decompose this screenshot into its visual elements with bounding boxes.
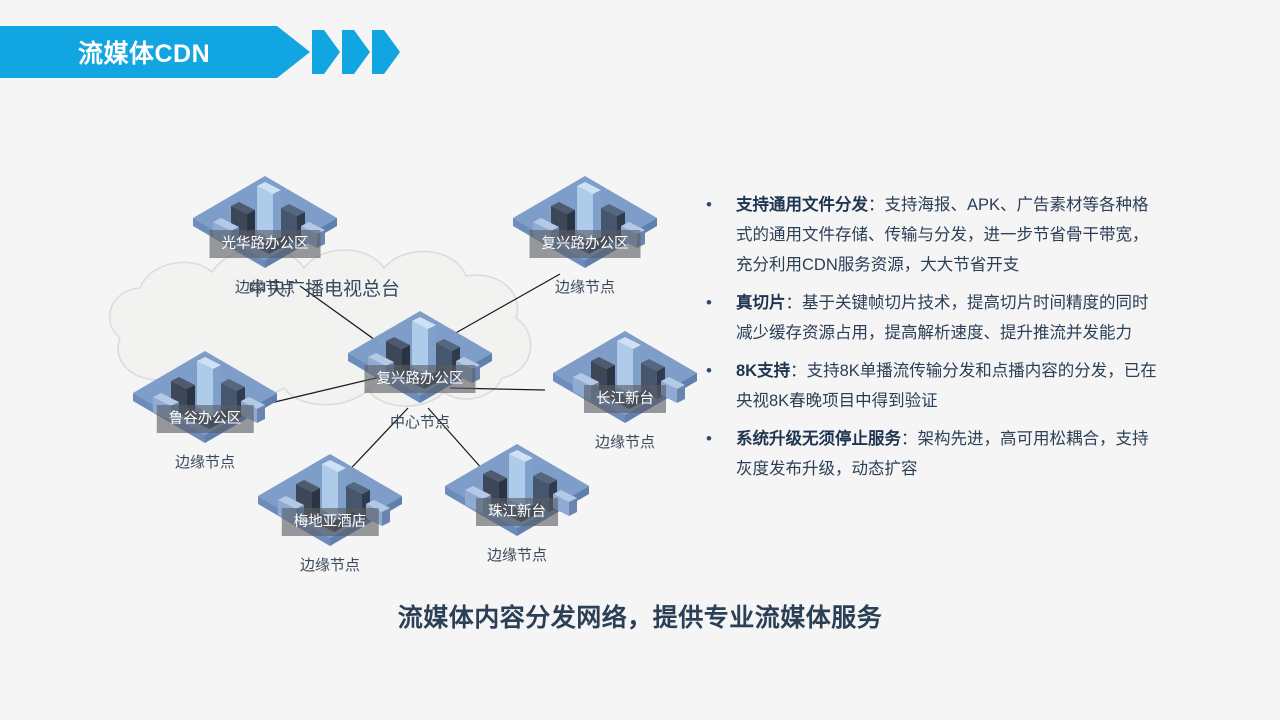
city-illustration: 复兴路办公区 xyxy=(340,305,500,409)
header-banner: 流媒体CDN xyxy=(0,26,400,78)
city-illustration: 梅地亚酒店 xyxy=(250,448,410,552)
feature-text-3: 8K支持：支持8K单播流传输分发和点播内容的分发，已在央视8K春晚项目中得到验证 xyxy=(736,356,1160,416)
city-illustration: 光华路办公区 xyxy=(185,170,345,274)
feature-term-4: 系统升级无须停止服务 xyxy=(736,430,901,448)
node-label: 鲁谷办公区 xyxy=(157,405,254,433)
footer-caption: 流媒体内容分发网络，提供专业流媒体服务 xyxy=(0,598,1280,634)
chevron-right-icon-3 xyxy=(372,30,400,74)
city-illustration: 长江新台 xyxy=(545,325,705,429)
page-title: 流媒体CDN xyxy=(78,34,210,70)
feature-term-2: 真切片 xyxy=(736,294,786,312)
node-sublabel: 边缘节点 xyxy=(505,276,665,297)
chevron-right-icon-2 xyxy=(342,30,370,74)
node-fuxinglu-center[interactable]: 复兴路办公区 中心节点 xyxy=(340,305,500,432)
bullet-point-icon: • xyxy=(700,356,736,416)
node-label: 梅地亚酒店 xyxy=(282,508,379,536)
node-label: 光华路办公区 xyxy=(210,230,321,258)
node-meidiya[interactable]: 梅地亚酒店 边缘节点 xyxy=(250,448,410,575)
city-illustration: 复兴路办公区 xyxy=(505,170,665,274)
node-changjiang[interactable]: 长江新台 边缘节点 xyxy=(545,325,705,452)
node-zhujiang[interactable]: 珠江新台 边缘节点 xyxy=(437,438,597,565)
city-illustration: 珠江新台 xyxy=(437,438,597,542)
node-label: 复兴路办公区 xyxy=(365,365,476,393)
node-sublabel: 边缘节点 xyxy=(437,544,597,565)
feature-separator-1: ： xyxy=(868,196,885,214)
cdn-network-diagram: 中央广播电视总台 xyxy=(0,90,690,610)
feature-item-4: • 系统升级无须停止服务：架构先进，高可用松耦合，支持灰度发布升级，动态扩容 xyxy=(700,424,1160,484)
feature-term-3: 8K支持 xyxy=(736,362,790,380)
diagram-center-title: 中央广播电视总台 xyxy=(248,274,400,301)
bullet-point-icon: • xyxy=(700,190,736,280)
feature-separator-4: ： xyxy=(901,430,918,448)
feature-text-4: 系统升级无须停止服务：架构先进，高可用松耦合，支持灰度发布升级，动态扩容 xyxy=(736,424,1160,484)
feature-item-3: • 8K支持：支持8K单播流传输分发和点播内容的分发，已在央视8K春晚项目中得到… xyxy=(700,356,1160,416)
feature-item-2: • 真切片：基于关键帧切片技术，提高切片时间精度的同时减少缓存资源占用，提高解析… xyxy=(700,288,1160,348)
node-sublabel: 边缘节点 xyxy=(250,554,410,575)
node-label: 珠江新台 xyxy=(476,498,558,526)
node-label: 长江新台 xyxy=(584,385,666,413)
bullet-point-icon: • xyxy=(700,424,736,484)
feature-separator-3: ： xyxy=(790,362,807,380)
node-sublabel: 中心节点 xyxy=(340,411,500,432)
chevron-right-icon-1 xyxy=(312,30,340,74)
feature-separator-2: ： xyxy=(786,294,803,312)
feature-text-2: 真切片：基于关键帧切片技术，提高切片时间精度的同时减少缓存资源占用，提高解析速度… xyxy=(736,288,1160,348)
feature-term-1: 支持通用文件分发 xyxy=(736,196,868,214)
feature-text-1: 支持通用文件分发：支持海报、APK、广告素材等各种格式的通用文件存储、传输与分发… xyxy=(736,190,1160,280)
feature-list: • 支持通用文件分发：支持海报、APK、广告素材等各种格式的通用文件存储、传输与… xyxy=(700,190,1160,492)
city-illustration: 鲁谷办公区 xyxy=(125,345,285,449)
node-fuxinglu-branch[interactable]: 复兴路办公区 边缘节点 xyxy=(505,170,665,297)
bullet-point-icon: • xyxy=(700,288,736,348)
node-label: 复兴路办公区 xyxy=(530,230,641,258)
feature-item-1: • 支持通用文件分发：支持海报、APK、广告素材等各种格式的通用文件存储、传输与… xyxy=(700,190,1160,280)
